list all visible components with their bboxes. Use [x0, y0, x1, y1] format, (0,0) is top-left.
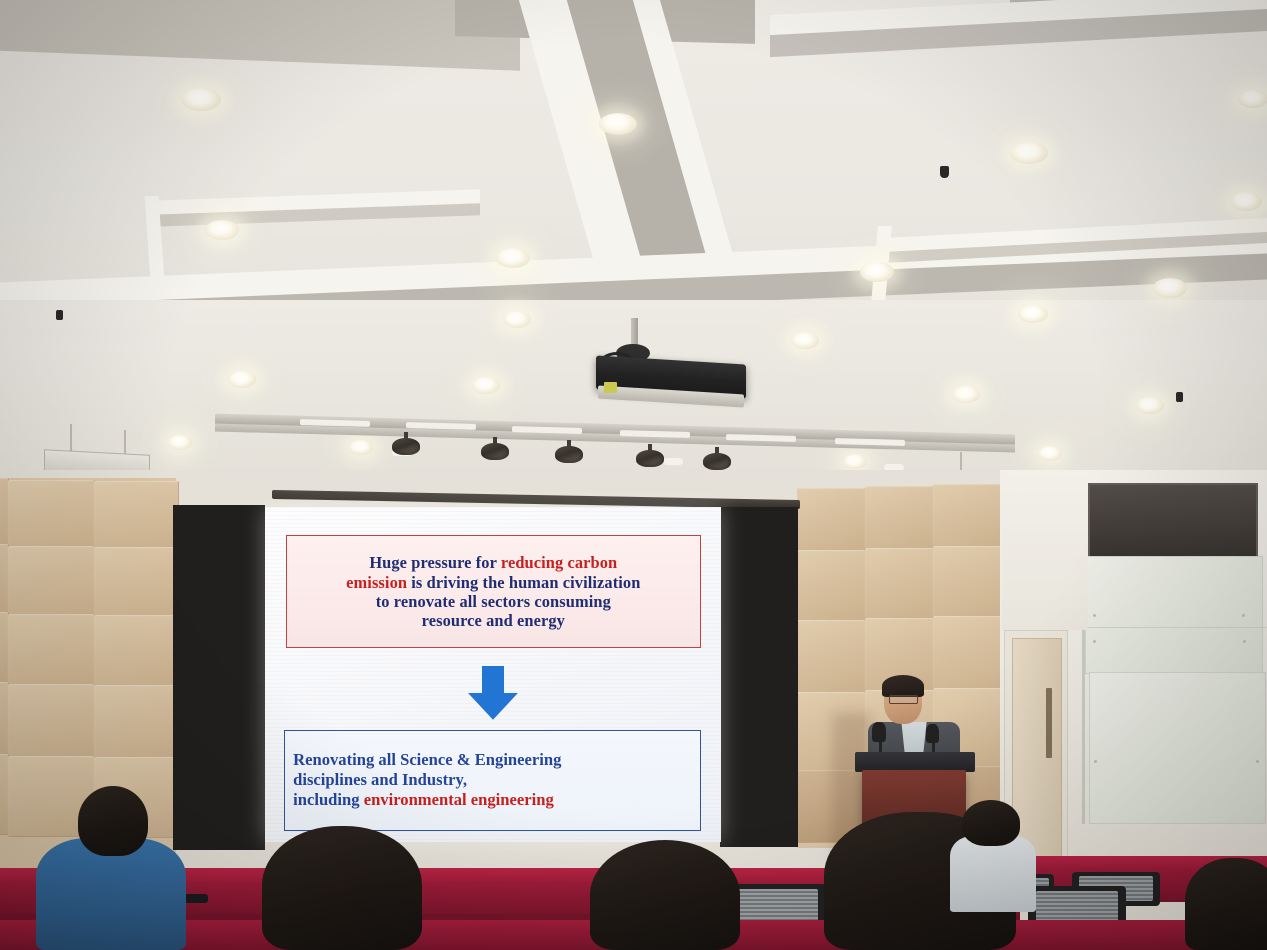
- wall-panel: [94, 547, 179, 616]
- downlight: [1136, 397, 1164, 414]
- slide-b2-line2: disciplines and Industry,: [293, 770, 467, 789]
- slide-line2b: is driving the human civilization: [407, 573, 640, 592]
- panel-screw: [1242, 614, 1245, 617]
- downlight: [1153, 278, 1187, 298]
- wall-panel: [797, 620, 866, 693]
- conference-hall-photo: Huge pressure for reducing carbon emissi…: [0, 0, 1267, 950]
- audience-person-head: [962, 800, 1020, 846]
- panel-screw: [1093, 640, 1096, 643]
- wall-panel: [8, 546, 95, 615]
- slide-line1a: Huge pressure for: [369, 553, 501, 572]
- wall-panel: [797, 550, 866, 621]
- downlight: [952, 386, 980, 403]
- wall-panel: [8, 684, 95, 757]
- ceiling-sensor-icon: [1176, 392, 1183, 402]
- downlight: [1010, 142, 1048, 164]
- wall-panel: [94, 615, 179, 686]
- slide-paragraph-top: Huge pressure for reducing carbon emissi…: [340, 553, 646, 630]
- downlight: [599, 113, 637, 135]
- track-spotlight: [481, 437, 509, 463]
- wall-panel: [8, 480, 95, 547]
- down-arrow-icon: [468, 666, 518, 720]
- downlight: [168, 435, 192, 450]
- microphone: [926, 724, 939, 743]
- slide-b2-line3a: including: [293, 790, 364, 809]
- downlight: [791, 332, 819, 349]
- slide-line3: to renovate all sectors consuming: [376, 592, 611, 611]
- microphone: [872, 722, 886, 742]
- glass-wall-panel: [1089, 672, 1266, 824]
- downlight: [181, 88, 221, 111]
- wall-segment-upper-right: [1002, 470, 1088, 630]
- slide-textbox-top: Huge pressure for reducing carbon emissi…: [286, 535, 701, 648]
- podium-desktop: [855, 752, 975, 772]
- audience-person-head: [1185, 858, 1267, 950]
- downlight: [1038, 446, 1062, 461]
- light-hanger-rod: [70, 424, 72, 454]
- downlight: [228, 371, 256, 388]
- wall-panel: [94, 481, 179, 548]
- downlight: [860, 262, 894, 282]
- glass-panel-seam: [1086, 627, 1266, 628]
- slide-line4: resource and energy: [422, 611, 565, 630]
- downlight: [205, 220, 239, 240]
- glass-wall-panel: [1085, 556, 1263, 674]
- screen-side-border-left: [173, 505, 265, 850]
- slide-b2-line1: Renovating all Science & Engineering: [293, 750, 561, 769]
- downlight: [496, 248, 530, 268]
- slide-line2a: emission: [346, 573, 407, 592]
- audience-person-head: [262, 826, 422, 950]
- door-handle-icon[interactable]: [1046, 688, 1052, 758]
- audience-person-head: [78, 786, 148, 856]
- wall-panel: [933, 616, 1004, 689]
- track-spotlight: [636, 444, 664, 470]
- wall-mounted-display: [1088, 483, 1258, 560]
- wall-panel: [933, 546, 1004, 617]
- downlight: [349, 440, 373, 455]
- panel-screw: [1243, 640, 1246, 643]
- panel-screw: [1094, 760, 1097, 763]
- wall-panel: [797, 488, 866, 551]
- slide-paragraph-bottom: Renovating all Science & Engineering dis…: [285, 750, 569, 810]
- audience-person-body: [950, 836, 1036, 912]
- ceiling-sensor-icon: [56, 310, 63, 320]
- slide-textbox-bottom: Renovating all Science & Engineering dis…: [284, 730, 701, 831]
- panel-screw: [1093, 614, 1096, 617]
- projection-screen: Huge pressure for reducing carbon emissi…: [265, 507, 721, 842]
- wall-panel: [8, 614, 95, 685]
- wall-panel: [933, 484, 1004, 547]
- downlight: [503, 311, 531, 328]
- ceiling-sensor-icon: [940, 166, 949, 178]
- audience-person-head: [590, 840, 740, 950]
- slide-line1b: reducing carbon: [501, 553, 617, 572]
- ceiling-light-strip: [663, 458, 683, 465]
- track-spotlight: [392, 432, 420, 458]
- speaker-hair: [882, 675, 924, 697]
- projector-label-icon: [604, 382, 617, 393]
- downlight: [472, 377, 500, 394]
- wall-panel: [865, 548, 934, 619]
- track-spotlight: [555, 440, 583, 466]
- wall-panel: [865, 486, 934, 549]
- wall-panel: [94, 685, 179, 758]
- downlight: [1238, 90, 1267, 108]
- downlight: [1018, 305, 1048, 323]
- screen-side-border-right: [720, 507, 798, 847]
- downlight: [843, 454, 867, 469]
- downlight: [1230, 192, 1262, 211]
- speaker-glasses-icon: [889, 695, 918, 704]
- slide-b2-line3b: environmental engineering: [364, 790, 554, 809]
- panel-screw: [1256, 760, 1259, 763]
